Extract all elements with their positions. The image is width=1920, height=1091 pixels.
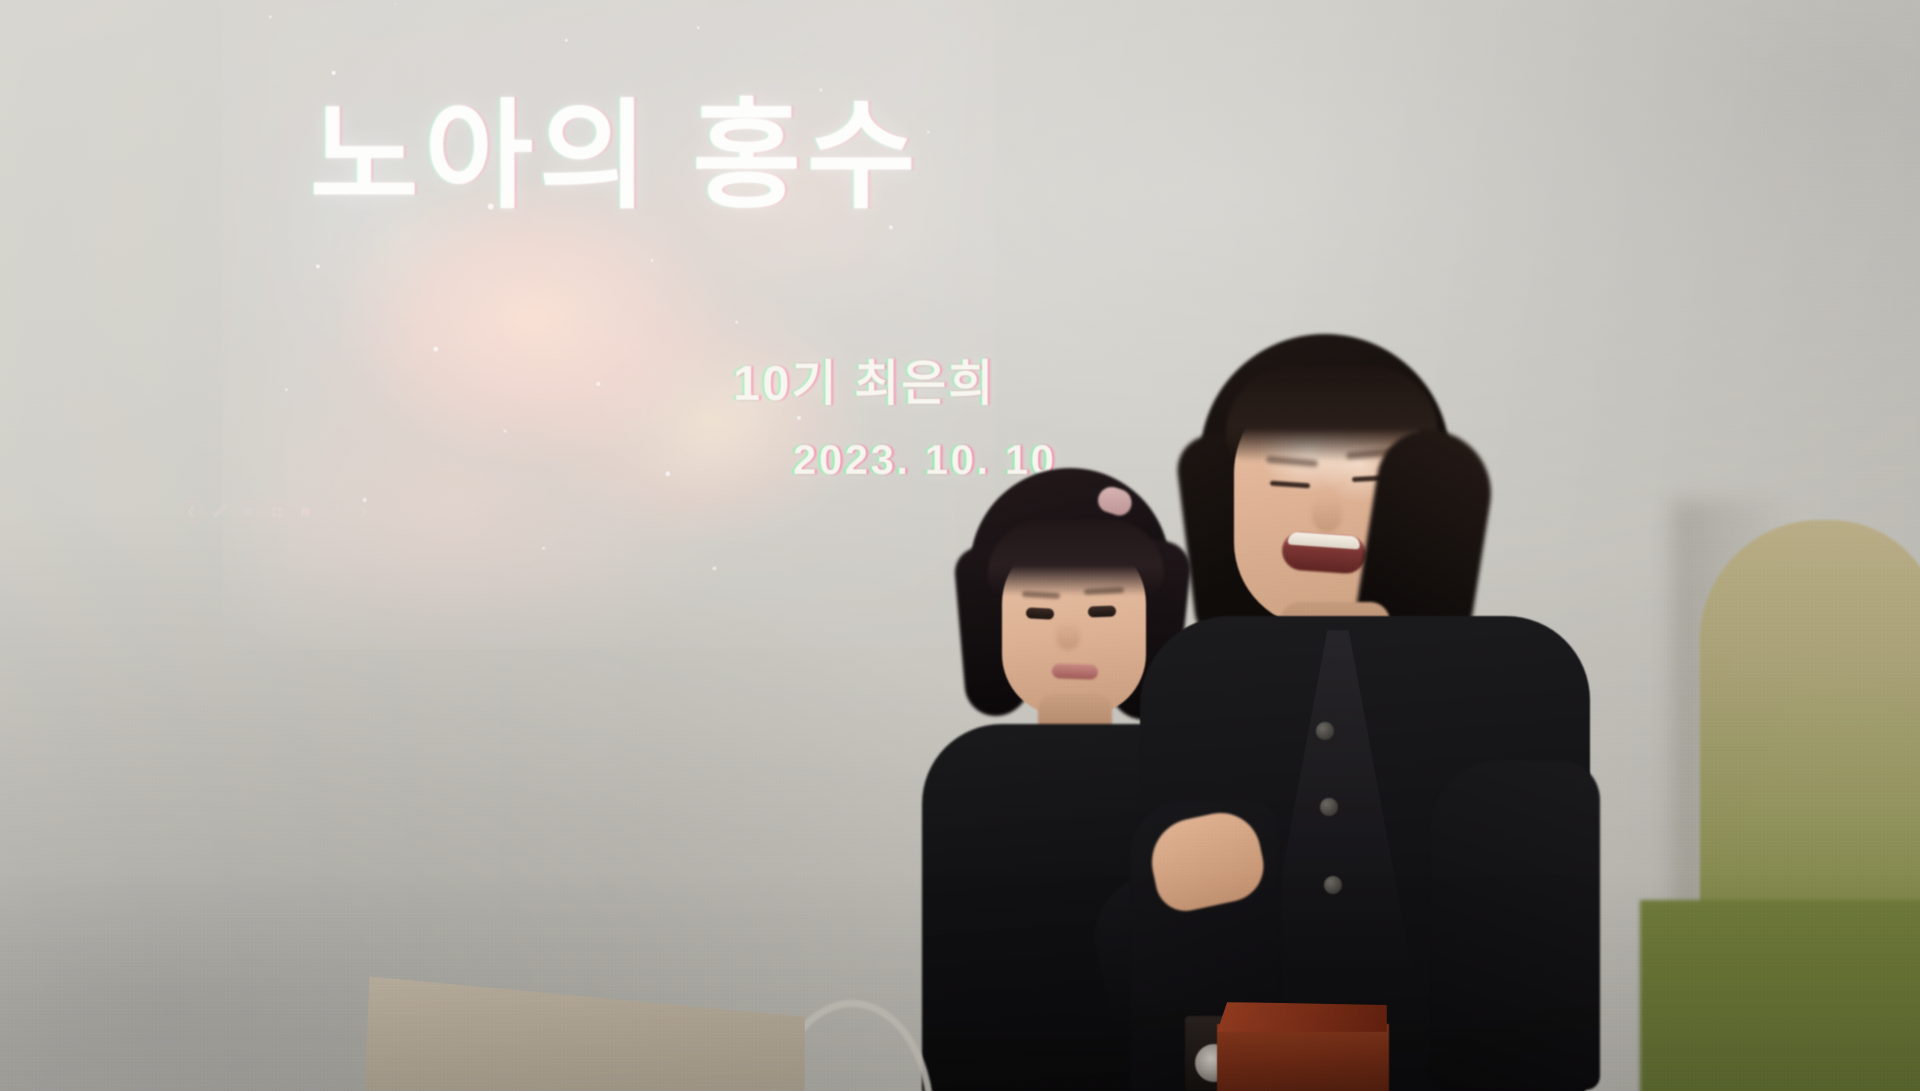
wooden-speaker [1195, 1002, 1395, 1091]
woman-nose [1312, 496, 1342, 532]
olive-chair [1700, 520, 1920, 940]
girl-eye-right [1088, 606, 1116, 618]
olive-chair-base [1640, 900, 1920, 1091]
laser-pointer-icon[interactable] [236, 500, 259, 523]
photo-scene: 노아의 홍수 10기 최은희 2023. 10. 10 [0, 0, 1920, 1091]
more-options-icon[interactable] [323, 500, 346, 523]
pen-tool-icon[interactable] [209, 501, 230, 522]
speaker-front-panel [1217, 1024, 1389, 1091]
next-slide-icon[interactable] [352, 500, 375, 523]
girl-nose [1056, 620, 1080, 650]
slideshow-toolbar[interactable] [180, 500, 375, 523]
slide-title: 노아의 홍수 [310, 96, 922, 220]
presenter-woman [1130, 330, 1600, 1091]
woman-jacket-button [1320, 798, 1338, 816]
slide-presenter: 10기 최은희 [733, 344, 995, 415]
woman-sleeve-right [1430, 760, 1600, 1090]
all-slides-icon[interactable] [265, 500, 288, 523]
zoom-screen-icon[interactable] [294, 500, 317, 523]
speaker-top-panel [1217, 1002, 1387, 1032]
woman-jacket-button [1316, 722, 1334, 740]
girl-eye-left [1026, 607, 1055, 619]
woman-jacket-button [1324, 876, 1342, 894]
previous-slide-icon[interactable] [180, 500, 203, 523]
girl-mouth [1052, 663, 1098, 680]
